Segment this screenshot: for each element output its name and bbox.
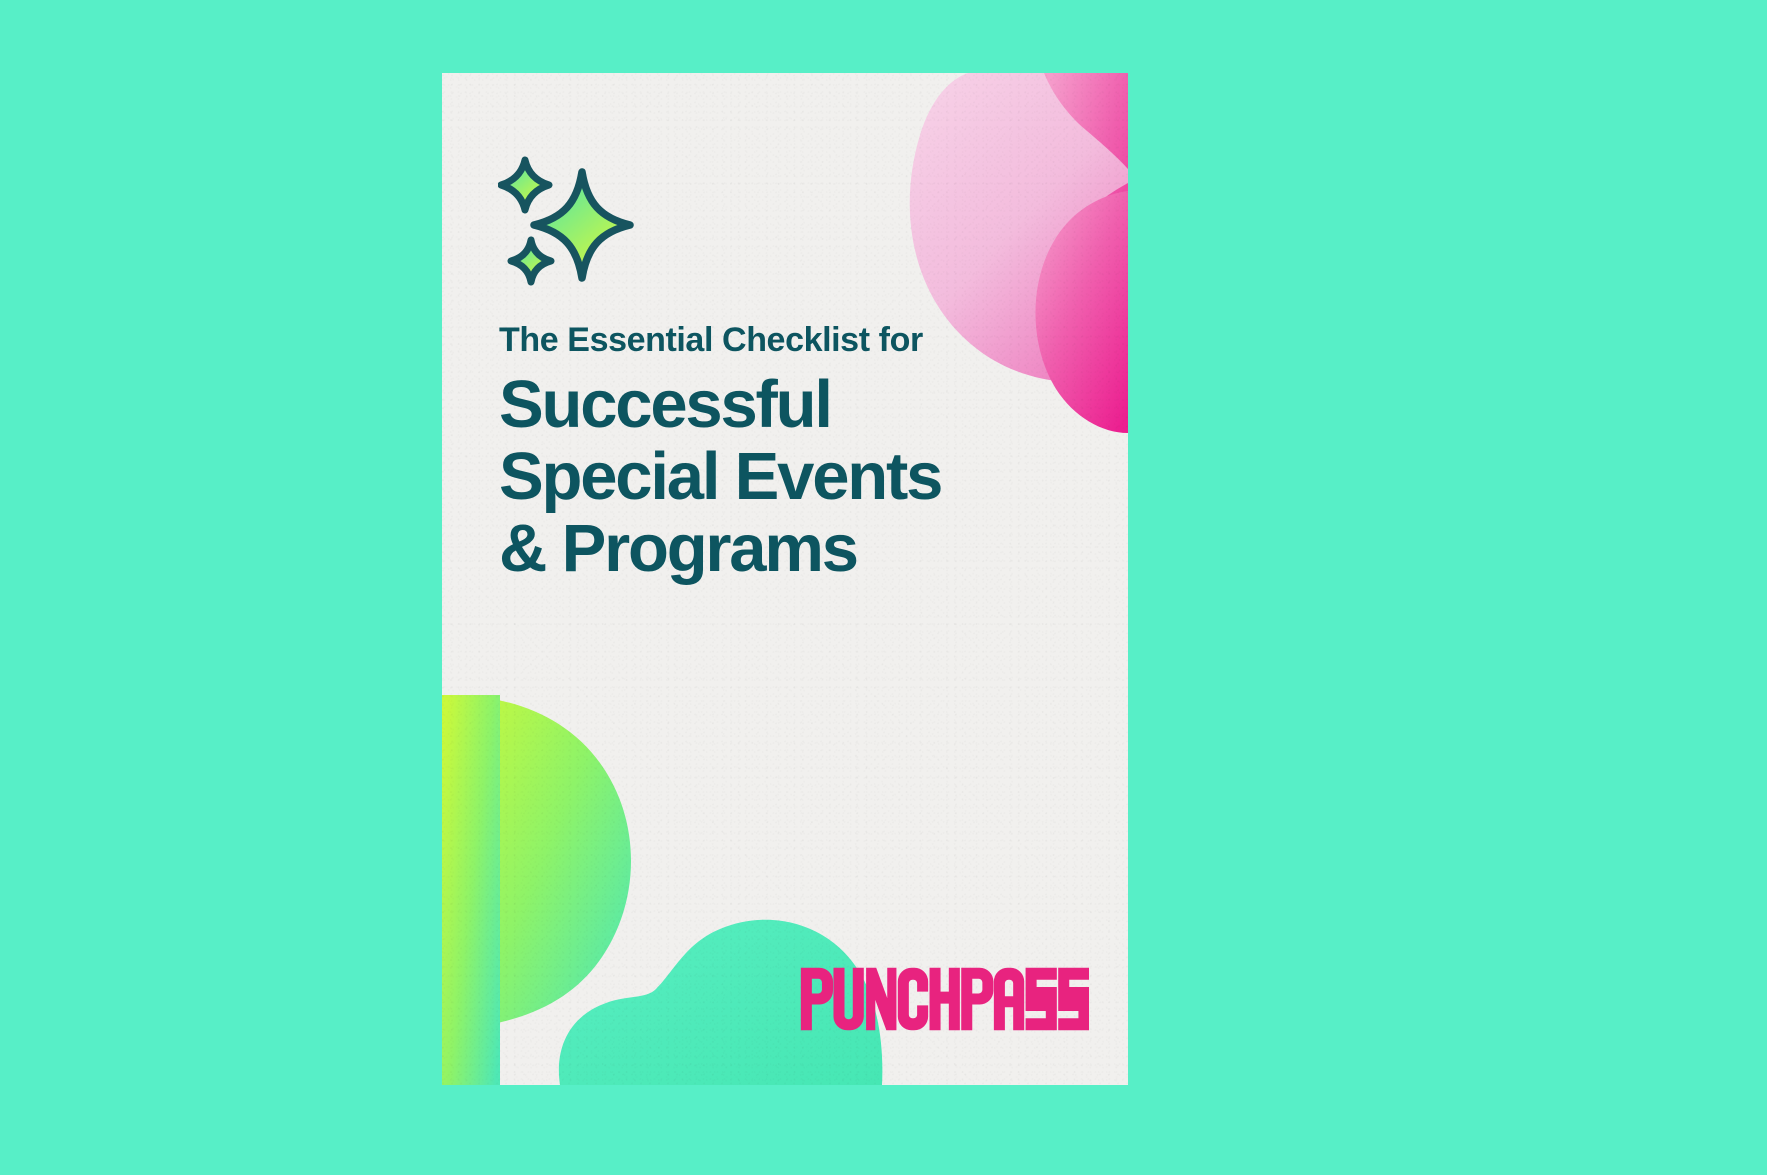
ebook-cover-card: The Essential Checklist for Successful S… xyxy=(442,73,1128,1085)
cover-headline: Successful Special Events & Programs xyxy=(499,369,1099,586)
punchpass-logo xyxy=(799,963,1089,1035)
headline-line-1: Successful xyxy=(499,369,1099,441)
punchpass-logo-glyphs xyxy=(801,968,1089,1031)
headline-line-2: Special Events xyxy=(499,441,1099,513)
page-background: The Essential Checklist for Successful S… xyxy=(0,0,1767,1175)
headline-line-3: & Programs xyxy=(499,513,1099,585)
cover-eyebrow: The Essential Checklist for xyxy=(499,323,1099,359)
sparkle-icon xyxy=(498,150,638,298)
title-block: The Essential Checklist for Successful S… xyxy=(499,323,1099,586)
